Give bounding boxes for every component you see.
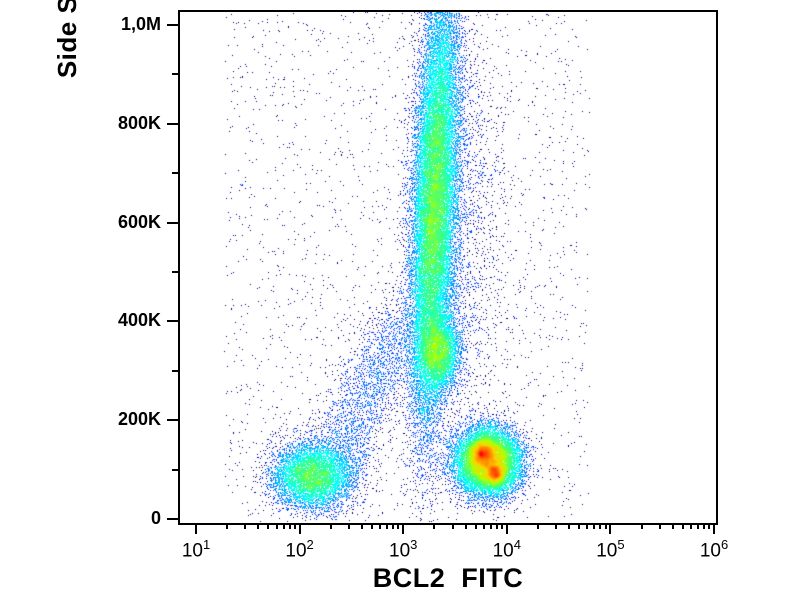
x-tick-label: 105 [596,537,624,562]
x-tick-minor-mark [490,523,492,529]
x-tick-minor-mark [483,523,485,529]
y-tick-label: 200K [51,409,161,430]
x-tick-minor-mark [537,523,539,529]
x-tick-minor-mark [330,523,332,529]
y-tick-mark [167,123,178,125]
y-tick-mark [167,518,178,520]
y-tick-mark [167,419,178,421]
x-tick-minor-mark [605,523,607,529]
x-tick-minor-mark [593,523,595,529]
x-tick-minor-mark [294,523,296,529]
x-tick-minor-mark [392,523,394,529]
x-tick-minor-mark [682,523,684,529]
y-tick-mark [167,24,178,26]
x-tick-minor-mark [257,523,259,529]
x-tick-label: 101 [182,537,210,562]
y-tick-mark [167,222,178,224]
y-tick-label: 400K [51,310,161,331]
x-tick-minor-mark [599,523,601,529]
x-tick-minor-mark [371,523,373,529]
x-tick-minor-mark [586,523,588,529]
x-tick-label: 106 [700,537,728,562]
y-tick-label: 600K [51,212,161,233]
x-tick-minor-mark [276,523,278,529]
x-tick-minor-mark [475,523,477,529]
x-tick-minor-mark [433,523,435,529]
x-axis-title: BCL2 FITC [178,563,718,594]
x-tick-minor-mark [659,523,661,529]
x-tick-minor-mark [452,523,454,529]
x-tick-minor-mark [361,523,363,529]
x-tick-mark [195,523,197,534]
x-tick-minor-mark [496,523,498,529]
x-tick-minor-mark [397,523,399,529]
x-tick-minor-mark [697,523,699,529]
x-tick-minor-mark [641,523,643,529]
x-tick-minor-mark [379,523,381,529]
plot-area [178,10,718,525]
x-tick-label: 102 [285,537,313,562]
x-tick-minor-mark [386,523,388,529]
scatter-density-canvas [180,12,716,523]
x-tick-mark [402,523,404,534]
x-tick-minor-mark [348,523,350,529]
y-tick-mark [167,320,178,322]
y-tick-label: 800K [51,113,161,134]
x-tick-label: 104 [493,537,521,562]
x-tick-minor-mark [244,523,246,529]
y-tick-label: 0 [51,508,161,529]
x-tick-mark [506,523,508,534]
x-tick-minor-mark [501,523,503,529]
x-tick-minor-mark [690,523,692,529]
x-tick-minor-mark [708,523,710,529]
flow-cytometry-figure: Side Scatter 0200K400K600K800K1,0M 10110… [0,0,800,600]
y-tick-label: 1,0M [51,14,161,35]
x-tick-label: 103 [389,537,417,562]
x-tick-minor-mark [465,523,467,529]
x-tick-mark [713,523,715,534]
x-tick-minor-mark [672,523,674,529]
x-tick-mark [299,523,301,534]
x-tick-minor-mark [555,523,557,529]
x-tick-minor-mark [289,523,291,529]
x-tick-minor-mark [283,523,285,529]
x-tick-mark [609,523,611,534]
x-tick-minor-mark [267,523,269,529]
x-tick-minor-mark [568,523,570,529]
x-tick-minor-mark [226,523,228,529]
x-tick-minor-mark [578,523,580,529]
x-tick-minor-mark [703,523,705,529]
